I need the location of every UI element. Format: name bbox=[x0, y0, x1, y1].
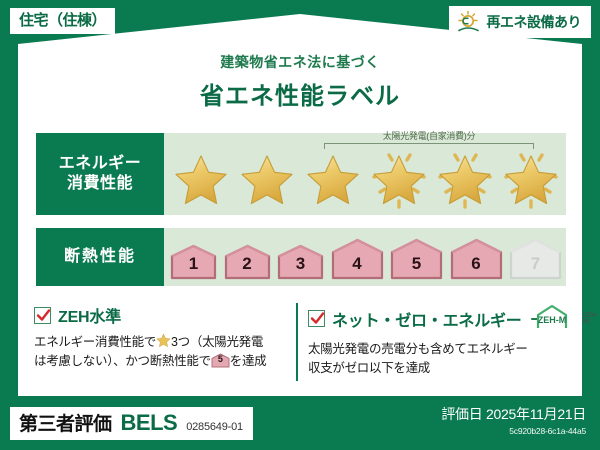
zeh-standard-title: ZEH水準 bbox=[58, 303, 121, 327]
net-zero-checkbox[interactable] bbox=[308, 310, 325, 327]
evaluation-date-block: 評価日 2025年11月21日 5c920b28-6c1a-44a5 bbox=[441, 404, 586, 436]
label-title-block: 建築物省エネ法に基づく 省エネ性能ラベル bbox=[0, 52, 600, 111]
insulation-level-4: 4 bbox=[331, 238, 384, 280]
bels-brand: BELS bbox=[121, 412, 178, 434]
insulation-level-5: 5 bbox=[390, 238, 443, 280]
energy-performance-label: 住宅（住棟） 再エネ設備あり 建築物省エネ法に基づく 省エネ性能ラベル bbox=[0, 0, 600, 450]
zeh-standard-section: ZEH水準 エネルギー消費性能で3つ（太陽光発電は考慮しない）、かつ断熱性能で5… bbox=[34, 303, 292, 372]
bels-certification-footer: 第三者評価 BELS 0285649-01 bbox=[10, 407, 253, 440]
inline-badge-number: 5 bbox=[211, 355, 230, 364]
info-column-divider bbox=[296, 303, 298, 381]
energy-star-4 bbox=[367, 146, 431, 210]
insulation-level-scale: 1234567 bbox=[170, 228, 562, 286]
label-uuid: 5c920b28-6c1a-44a5 bbox=[441, 426, 586, 436]
insulation-level-2: 2 bbox=[224, 244, 271, 280]
insulation-level-number: 1 bbox=[170, 254, 217, 274]
solar-bracket-caption: 太陽光発電(自家消費)分 bbox=[324, 132, 534, 141]
insulation-level-7: 7 bbox=[509, 238, 562, 280]
insulation-level-number: 4 bbox=[331, 254, 384, 274]
check-icon bbox=[310, 311, 325, 326]
energy-label-line1: エネルギー bbox=[59, 154, 142, 174]
insulation-level-number: 6 bbox=[450, 254, 503, 274]
insulation-level-3: 3 bbox=[277, 244, 324, 280]
net-zero-title: ネット・ゼロ・エネルギー bbox=[332, 307, 522, 331]
solar-sun-icon bbox=[456, 10, 482, 34]
inline-star-icon bbox=[156, 333, 171, 348]
insulation-level-1: 1 bbox=[170, 244, 217, 280]
zeh-standard-header: ZEH水準 bbox=[34, 303, 292, 327]
evaluation-date: 評価日 2025年11月21日 bbox=[441, 404, 586, 424]
insulation-rating-panel: 1234567 bbox=[164, 228, 566, 286]
zeh-standard-checkbox[interactable] bbox=[34, 307, 51, 324]
third-party-eval-text: 第三者評価 bbox=[19, 415, 112, 434]
renewable-energy-badge: 再エネ設備あり bbox=[449, 6, 592, 38]
net-zero-desc-line1: 太陽光発電の売電分も含めてエネルギー bbox=[308, 342, 528, 356]
insulation-performance-row: 断熱性能 1234567 bbox=[36, 228, 566, 286]
net-zero-description: 太陽光発電の売電分も含めてエネルギー 収支がゼロ以下を達成 bbox=[308, 340, 570, 379]
insulation-level-number: 7 bbox=[509, 254, 562, 274]
energy-star-5 bbox=[433, 146, 497, 210]
insulation-level-number: 3 bbox=[277, 254, 324, 274]
insulation-level-6: 6 bbox=[450, 238, 503, 280]
certificate-number: 0285649-01 bbox=[186, 422, 243, 433]
zeh-m-logo-text: ZEH-M bbox=[537, 315, 566, 325]
energy-star-rating bbox=[168, 143, 564, 213]
building-type-tag: 住宅（住棟） bbox=[10, 8, 115, 34]
zeh-desc-part2: は考慮しない）、かつ断熱性能で bbox=[34, 354, 211, 368]
energy-performance-label-box: エネルギー 消費性能 bbox=[36, 133, 164, 215]
insulation-performance-label-box: 断熱性能 bbox=[36, 228, 164, 286]
energy-star-1 bbox=[169, 146, 233, 210]
energy-star-2 bbox=[235, 146, 299, 210]
zeh-desc-starcount: 3つ（太陽光発電 bbox=[171, 335, 263, 349]
zeh-m-logo: ZEH-M bbox=[530, 303, 576, 334]
insulation-level-number: 5 bbox=[390, 254, 443, 274]
label-title: 省エネ性能ラベル bbox=[0, 76, 600, 111]
check-icon bbox=[36, 308, 51, 323]
net-zero-header: ネット・ゼロ・エネルギー ZEH-M (ZEH-M) bbox=[308, 303, 570, 334]
insulation-label: 断熱性能 bbox=[64, 247, 136, 267]
energy-performance-row: エネルギー 消費性能 太陽光発電(自家消費)分 bbox=[36, 133, 566, 215]
zeh-desc-part3: を達成 bbox=[230, 354, 267, 368]
energy-rating-panel: 太陽光発電(自家消費)分 bbox=[164, 133, 566, 215]
energy-star-6 bbox=[499, 146, 563, 210]
label-subtitle: 建築物省エネ法に基づく bbox=[0, 52, 600, 72]
energy-label-line2: 消費性能 bbox=[67, 174, 133, 194]
net-zero-energy-section: ネット・ゼロ・エネルギー ZEH-M (ZEH-M) 太陽光発電の売電分も含めて… bbox=[308, 303, 570, 379]
inline-insulation-badge: 5 bbox=[211, 353, 230, 368]
energy-star-3 bbox=[301, 146, 365, 210]
zeh-desc-part1: エネルギー消費性能で bbox=[34, 335, 156, 349]
insulation-level-number: 2 bbox=[224, 254, 271, 274]
zeh-standard-description: エネルギー消費性能で3つ（太陽光発電は考慮しない）、かつ断熱性能で5を達成 bbox=[34, 333, 292, 372]
renewable-badge-label: 再エネ設備あり bbox=[487, 15, 582, 29]
net-zero-desc-line2: 収支がゼロ以下を達成 bbox=[308, 361, 430, 375]
zeh-m-logo-subtext: (ZEH-M) bbox=[583, 313, 598, 325]
